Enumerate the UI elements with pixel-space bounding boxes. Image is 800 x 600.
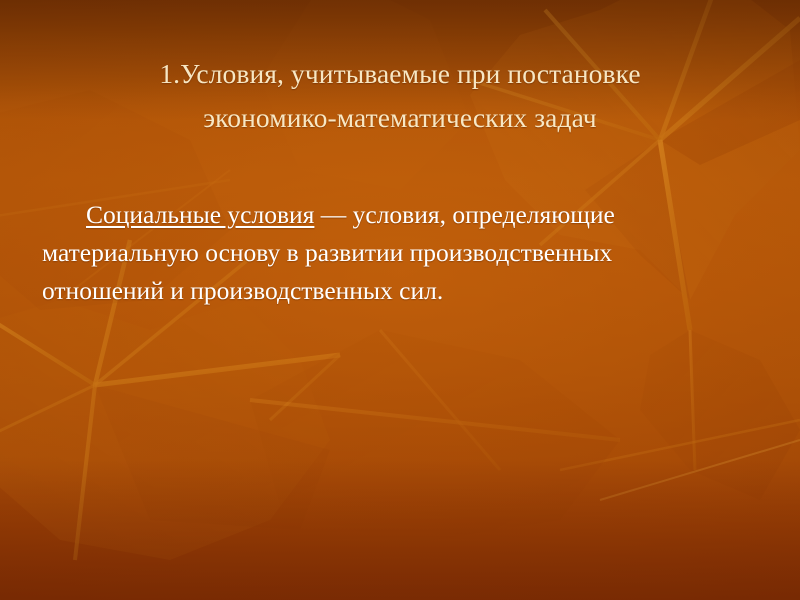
slide-body-paragraph: Социальные условия — условия, определяющ… xyxy=(42,196,692,310)
slide-title: 1.Условия, учитываемые при постановке эк… xyxy=(60,52,740,140)
em-dash: — xyxy=(314,200,352,229)
slide-title-line-1: 1.Условия, учитываемые при постановке xyxy=(60,52,740,96)
slide-title-line-2: экономико-математических задач xyxy=(60,96,740,140)
defined-term: Социальные условия xyxy=(86,200,314,229)
presentation-slide: 1.Условия, учитываемые при постановке эк… xyxy=(0,0,800,600)
